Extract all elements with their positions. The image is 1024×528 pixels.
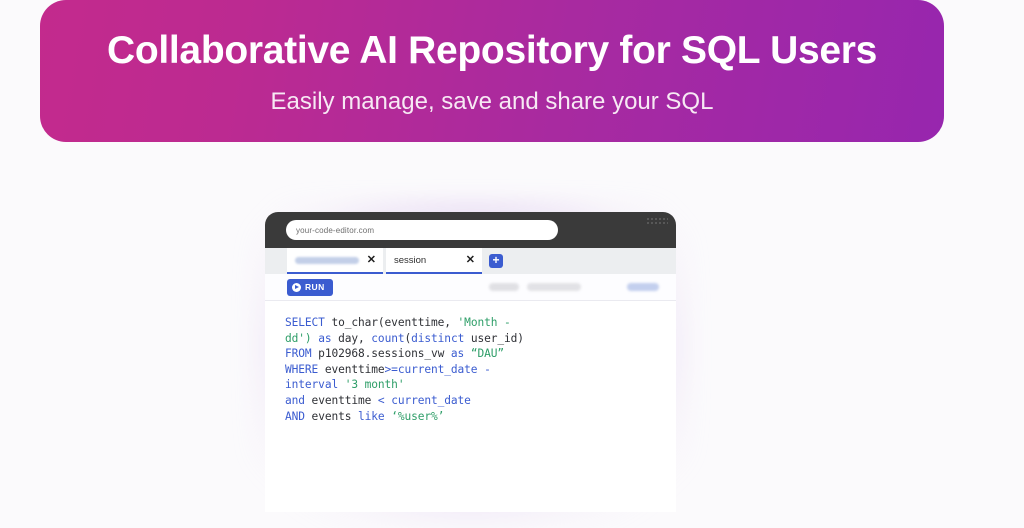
sql-code-editor[interactable]: SELECT to_char(eventtime, 'Month -dd') a…	[265, 301, 676, 424]
browser-mockup: your-code-editor.com ✕ session ✕ + RUN S…	[265, 212, 676, 512]
play-icon	[292, 283, 301, 292]
tab-label: session	[394, 255, 426, 266]
tab-label-blurred	[295, 257, 359, 264]
code-line: and eventtime < current_date	[285, 393, 676, 409]
code-token: < current_date	[378, 394, 471, 407]
chrome-grip-dots-icon	[646, 217, 668, 226]
address-bar-url: your-code-editor.com	[296, 226, 374, 235]
code-token: SELECT	[285, 316, 325, 329]
code-token: >=current_date -	[385, 363, 491, 376]
code-token: as	[318, 332, 331, 345]
code-token: ‘%user%’	[391, 410, 444, 423]
add-tab-icon[interactable]: +	[489, 254, 503, 268]
address-bar[interactable]: your-code-editor.com	[286, 220, 558, 240]
code-token: eventtime	[305, 394, 378, 407]
code-line: dd') as day, count(distinct user_id)	[285, 331, 676, 347]
code-token: 'Month -	[458, 316, 511, 329]
code-line: interval '3 month'	[285, 377, 676, 393]
code-line: FROM p102968.sessions_vw as “DAU”	[285, 346, 676, 362]
code-line: AND events like ‘%user%’	[285, 409, 676, 425]
code-token: FROM	[285, 347, 312, 360]
code-token	[338, 378, 345, 391]
page-title: Collaborative AI Repository for SQL User…	[107, 30, 877, 73]
code-token: events	[305, 410, 358, 423]
tab-strip: ✕ session ✕ +	[265, 248, 676, 274]
browser-chrome-bar: your-code-editor.com	[265, 212, 676, 248]
code-token: count	[371, 332, 404, 345]
code-token: AND	[285, 410, 305, 423]
toolbar-placeholder-3[interactable]	[627, 283, 659, 291]
code-token: day,	[331, 332, 371, 345]
code-token	[464, 347, 471, 360]
code-token: interval	[285, 378, 338, 391]
code-token: eventtime	[318, 363, 384, 376]
code-token: user_id)	[464, 332, 524, 345]
code-line: WHERE eventtime>=current_date -	[285, 362, 676, 378]
code-token: distinct	[411, 332, 464, 345]
code-token: “DAU”	[471, 347, 504, 360]
code-token: WHERE	[285, 363, 318, 376]
tab-untitled[interactable]: ✕	[287, 248, 383, 274]
run-button[interactable]: RUN	[287, 279, 333, 296]
code-token: p102968.sessions_vw	[312, 347, 451, 360]
page-subtitle: Easily manage, save and share your SQL	[271, 89, 714, 115]
run-button-label: RUN	[305, 282, 325, 292]
code-token: and	[285, 394, 305, 407]
toolbar-placeholder-1[interactable]	[489, 283, 519, 291]
code-token: as	[451, 347, 464, 360]
code-token: to_char(eventtime,	[325, 316, 458, 329]
hero-banner: Collaborative AI Repository for SQL User…	[40, 0, 944, 142]
tab-close-icon[interactable]: ✕	[466, 255, 475, 266]
tab-session[interactable]: session ✕	[386, 248, 482, 274]
editor-toolbar: RUN	[265, 274, 676, 301]
tab-close-icon[interactable]: ✕	[367, 255, 376, 266]
toolbar-placeholder-2[interactable]	[527, 283, 581, 291]
code-token: like	[358, 410, 385, 423]
code-token: '3 month'	[345, 378, 405, 391]
code-line: SELECT to_char(eventtime, 'Month -	[285, 315, 676, 331]
code-token: dd')	[285, 332, 312, 345]
